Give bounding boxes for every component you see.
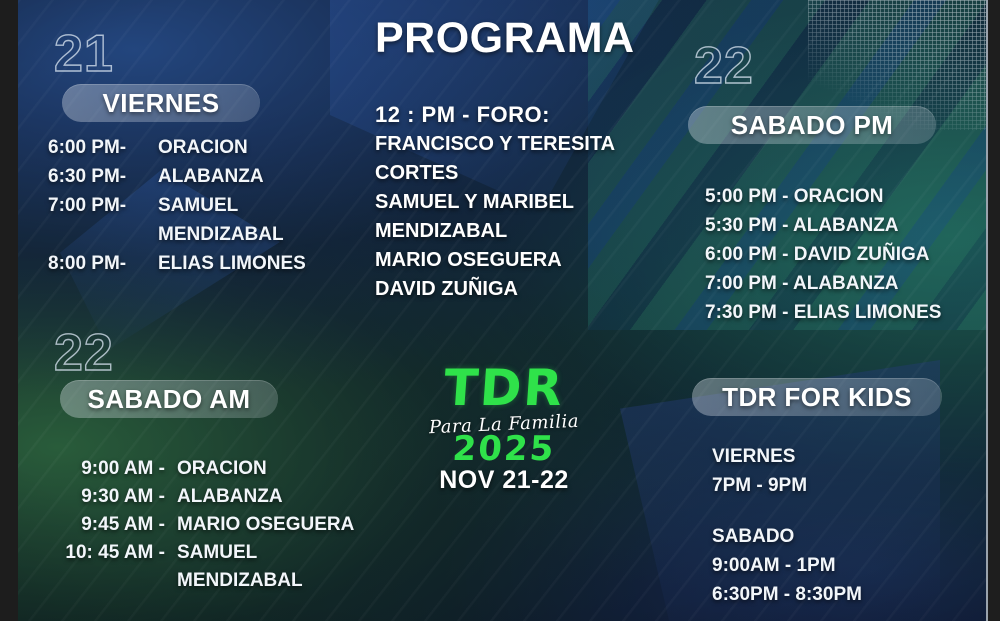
logo-brand: TDR [416,362,592,414]
kids-friday-label: VIERNES [712,442,962,471]
foro-block: 12 : PM - FORO: FRANCISCO Y TERESITA COR… [375,100,675,304]
row-time: 6:30 PM- [48,162,158,191]
kids-pill-label: TDR FOR KIDS [722,382,912,413]
schedule-row: MENDIZABAL [48,220,348,249]
saturday-am-pill-label: SABADO AM [88,384,251,415]
logo-dates: NOV 21-22 [418,466,590,494]
schedule-row: 7:30 PM - ELIAS LIMONES [705,298,975,327]
saturday-pm-day-number: 22 [694,40,754,92]
foro-heading: 12 : PM - FORO: [375,100,675,130]
row-event: MENDIZABAL [177,567,370,595]
schedule-row: 9:45 AM - MARIO OSEGUERA [40,511,370,539]
saturday-am-schedule-list: 9:00 AM - ORACION 9:30 AM - ALABANZA 9:4… [40,455,370,595]
row-event: MENDIZABAL [158,220,348,249]
row-event: MARIO OSEGUERA [177,511,370,539]
row-time: 6:00 PM- [48,133,158,162]
schedule-row: 9:30 AM - ALABANZA [40,483,370,511]
kids-schedule-list: VIERNES 7PM - 9PM SABADO 9:00AM - 1PM 6:… [712,442,962,609]
friday-schedule-list: 6:00 PM- ORACION 6:30 PM- ALABANZA 7:00 … [48,133,348,278]
schedule-row: 9:00 AM - ORACION [40,455,370,483]
schedule-row: 5:30 PM - ALABANZA [705,211,975,240]
kids-saturday-hours-1: 9:00AM - 1PM [712,551,962,580]
kids-saturday-hours-2: 6:30PM - 8:30PM [712,580,962,609]
row-event: ELIAS LIMONES [158,249,348,278]
row-time [48,220,158,249]
row-event: SAMUEL [177,539,370,567]
friday-day-number: 21 [54,28,114,80]
spacer [712,500,962,522]
row-time [40,567,177,595]
tdr-logo: TDR Para La Familia 2025 NOV 21-22 [418,362,590,492]
schedule-row: 7:00 PM- SAMUEL [48,191,348,220]
schedule-row: 5:00 PM - ORACION [705,182,975,211]
friday-pill: VIERNES [62,84,260,122]
schedule-row: 7:00 PM - ALABANZA [705,269,975,298]
saturday-am-day-number: 22 [54,327,114,379]
foro-name: MENDIZABAL [375,217,675,246]
row-event: ORACION [158,133,348,162]
row-event: SAMUEL [158,191,348,220]
page-title: PROGRAMA [375,14,635,63]
row-time: 9:00 AM - [40,455,177,483]
foro-name: CORTES [375,159,675,188]
friday-pill-label: VIERNES [103,88,220,119]
foro-name: MARIO OSEGUERA [375,246,675,275]
schedule-row: MENDIZABAL [40,567,370,595]
saturday-am-pill: SABADO AM [60,380,278,418]
row-time: 8:00 PM- [48,249,158,278]
kids-saturday-label: SABADO [712,522,962,551]
schedule-row: 6:00 PM- ORACION [48,133,348,162]
row-event: ORACION [177,455,370,483]
row-event: ALABANZA [177,483,370,511]
program-poster: PROGRAMA 21 VIERNES 6:00 PM- ORACION 6:3… [0,0,1000,621]
kids-pill: TDR FOR KIDS [692,378,942,416]
schedule-row: 6:30 PM- ALABANZA [48,162,348,191]
schedule-row: 8:00 PM- ELIAS LIMONES [48,249,348,278]
row-event: ALABANZA [158,162,348,191]
row-time: 9:30 AM - [40,483,177,511]
saturday-pm-pill: SABADO PM [688,106,936,144]
logo-year: 2025 [417,432,591,466]
schedule-row: 10: 45 AM - SAMUEL [40,539,370,567]
saturday-pm-schedule-list: 5:00 PM - ORACION 5:30 PM - ALABANZA 6:0… [705,182,975,327]
row-time: 10: 45 AM - [40,539,177,567]
kids-friday-hours: 7PM - 9PM [712,471,962,500]
saturday-pm-pill-label: SABADO PM [731,110,894,141]
foro-name: SAMUEL Y MARIBEL [375,188,675,217]
foro-name: DAVID ZUÑIGA [375,275,675,304]
row-time: 9:45 AM - [40,511,177,539]
row-time: 7:00 PM- [48,191,158,220]
foro-name: FRANCISCO Y TERESITA [375,130,675,159]
schedule-row: 6:00 PM - DAVID ZUÑIGA [705,240,975,269]
